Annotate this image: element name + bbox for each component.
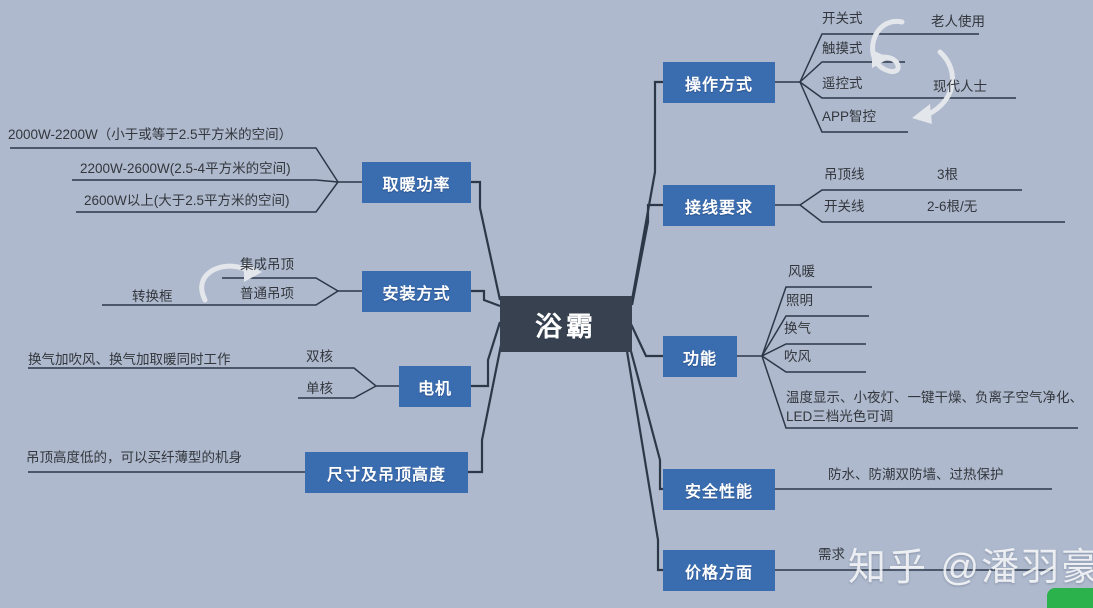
corner-accent-mark	[1047, 588, 1093, 608]
leaf-function-warm-air[interactable]: 风暖	[788, 263, 815, 280]
branch-label-operation: 操作方式	[685, 71, 753, 95]
leaf-label: 温度显示、小夜灯、一键干燥、负离子空气净化、LED三档光色可调	[786, 390, 1083, 424]
edge-function-c2	[762, 344, 866, 356]
arrowhead-app	[912, 104, 932, 124]
center-node[interactable]: 浴霸	[500, 296, 632, 352]
leaf-value: 3根	[937, 167, 958, 182]
leaf-power-range-1[interactable]: 2000W-2200W（小于或等于2.5平方米的空间）	[8, 126, 292, 143]
mindmap-canvas: 浴霸 操作方式 接线要求 功能 安全性能 价格方面 取暖功率 安装方式 电机 尺…	[0, 0, 1093, 608]
leaf-operation-touch[interactable]: 触摸式	[822, 40, 863, 57]
leaf-function-ventilation[interactable]: 换气	[784, 320, 811, 337]
leaf-wiring-switch-value: 2-6根/无	[927, 198, 977, 215]
leaf-power-range-3[interactable]: 2600W以上(大于2.5平方米的空间)	[84, 192, 290, 209]
note-label: 换气加吹风、换气加取暖同时工作	[28, 352, 231, 367]
leaf-label: 防水、防潮双防墙、过热保护	[828, 467, 1004, 482]
leaf-wiring-ceiling-line[interactable]: 吊顶线	[824, 166, 865, 183]
note-label: 现代人士	[933, 79, 987, 94]
leaf-wiring-ceiling-value: 3根	[937, 166, 958, 183]
leaf-install-integrated-ceiling[interactable]: 集成吊顶	[240, 256, 294, 273]
edge-center-size	[468, 340, 502, 472]
leaf-label: 开关线	[824, 199, 865, 214]
branch-node-motor[interactable]: 电机	[399, 366, 471, 407]
edge-center-price	[626, 345, 663, 570]
branch-node-price[interactable]: 价格方面	[663, 550, 775, 591]
leaf-label: 风暖	[788, 264, 815, 279]
leaf-power-range-2[interactable]: 2200W-2600W(2.5-4平方米的空间)	[80, 160, 291, 177]
leaf-size-slim-body[interactable]: 吊顶高度低的，可以买纤薄型的机身	[26, 449, 242, 466]
branch-node-safety[interactable]: 安全性能	[663, 469, 775, 510]
watermark: 知乎 @潘羽豪	[848, 536, 1093, 591]
note-label: 老人使用	[931, 14, 985, 29]
branch-label-wiring: 接线要求	[685, 194, 753, 218]
branch-label-price: 价格方面	[685, 559, 753, 583]
branch-node-operation[interactable]: 操作方式	[663, 62, 775, 103]
branch-label-function: 功能	[683, 345, 717, 369]
arrowhead-touch	[872, 50, 890, 68]
watermark-text: 知乎 @潘羽豪	[848, 547, 1093, 589]
leaf-motor-single-core[interactable]: 单核	[306, 380, 333, 397]
branch-label-install: 安装方式	[382, 280, 450, 304]
leaf-label: 照明	[786, 293, 813, 308]
edge-center-power	[471, 182, 500, 300]
branch-label-size: 尺寸及吊顶高度	[327, 461, 446, 485]
branch-node-power[interactable]: 取暖功率	[362, 162, 471, 203]
leaf-function-lighting[interactable]: 照明	[786, 292, 813, 309]
leaf-label: 吊顶线	[824, 167, 865, 182]
edge-center-motor	[471, 322, 500, 386]
leaf-function-blow[interactable]: 吹风	[784, 348, 811, 365]
leaf-label: 触摸式	[822, 41, 863, 56]
leaf-value: 2-6根/无	[927, 199, 977, 214]
arrow-elderly-to-touch	[873, 21, 902, 71]
note-label: 转换框	[132, 289, 173, 304]
edge-power-c1	[72, 180, 338, 182]
edge-function-c3	[762, 356, 866, 372]
leaf-label: 2600W以上(大于2.5平方米的空间)	[84, 193, 290, 208]
edge-center-wiring	[632, 205, 663, 305]
leaf-label: 需求	[818, 547, 845, 562]
leaf-label: APP智控	[822, 109, 876, 124]
leaf-label: 2000W-2200W（小于或等于2.5平方米的空间）	[8, 127, 292, 142]
annotation-arrows	[202, 21, 953, 300]
leaf-wiring-switch-line[interactable]: 开关线	[824, 198, 865, 215]
leaf-label: 吹风	[784, 349, 811, 364]
leaf-operation-remote[interactable]: 遥控式	[822, 75, 863, 92]
edge-center-safety	[628, 340, 663, 489]
branch-node-function[interactable]: 功能	[663, 336, 737, 377]
edge-function-c0	[762, 287, 872, 356]
note-operation-elderly: 老人使用	[931, 10, 985, 30]
branch-node-wiring[interactable]: 接线要求	[663, 185, 775, 226]
leaf-label: 遥控式	[822, 76, 863, 91]
edge-center-install	[471, 291, 500, 306]
leaf-label: 集成吊顶	[240, 257, 294, 272]
edge-center-function	[630, 322, 663, 356]
branch-node-install[interactable]: 安装方式	[362, 271, 471, 312]
leaf-price-demand[interactable]: 需求	[818, 546, 845, 563]
edge-center-operation	[632, 82, 663, 300]
leaf-function-extras[interactable]: 温度显示、小夜灯、一键干燥、负离子空气净化、LED三档光色可调	[786, 388, 1086, 426]
leaf-label: 换气	[784, 321, 811, 336]
leaf-label: 开关式	[822, 11, 863, 26]
leaf-motor-dual-core[interactable]: 双核	[306, 348, 333, 365]
branch-label-safety: 安全性能	[685, 478, 753, 502]
note-motor-dual-core-detail: 换气加吹风、换气加取暖同时工作	[28, 348, 231, 368]
note-operation-modern: 现代人士	[933, 75, 987, 95]
leaf-install-normal-ceiling[interactable]: 普通吊项	[240, 285, 294, 302]
leaf-operation-app[interactable]: APP智控	[822, 108, 876, 125]
branch-label-motor: 电机	[418, 375, 452, 399]
center-node-label: 浴霸	[535, 305, 597, 344]
leaf-label: 2200W-2600W(2.5-4平方米的空间)	[80, 161, 291, 176]
leaf-label: 单核	[306, 381, 333, 396]
note-install-conversion-frame: 转换框	[132, 285, 173, 305]
leaf-label: 双核	[306, 349, 333, 364]
leaf-safety-features[interactable]: 防水、防潮双防墙、过热保护	[828, 466, 1004, 483]
edge-function-c1	[762, 316, 869, 356]
branch-node-size[interactable]: 尺寸及吊顶高度	[305, 452, 468, 493]
branch-label-power: 取暖功率	[382, 171, 450, 195]
leaf-label: 普通吊项	[240, 286, 294, 301]
leaf-label: 吊顶高度低的，可以买纤薄型的机身	[26, 450, 242, 465]
leaf-operation-switch[interactable]: 开关式	[822, 10, 863, 27]
